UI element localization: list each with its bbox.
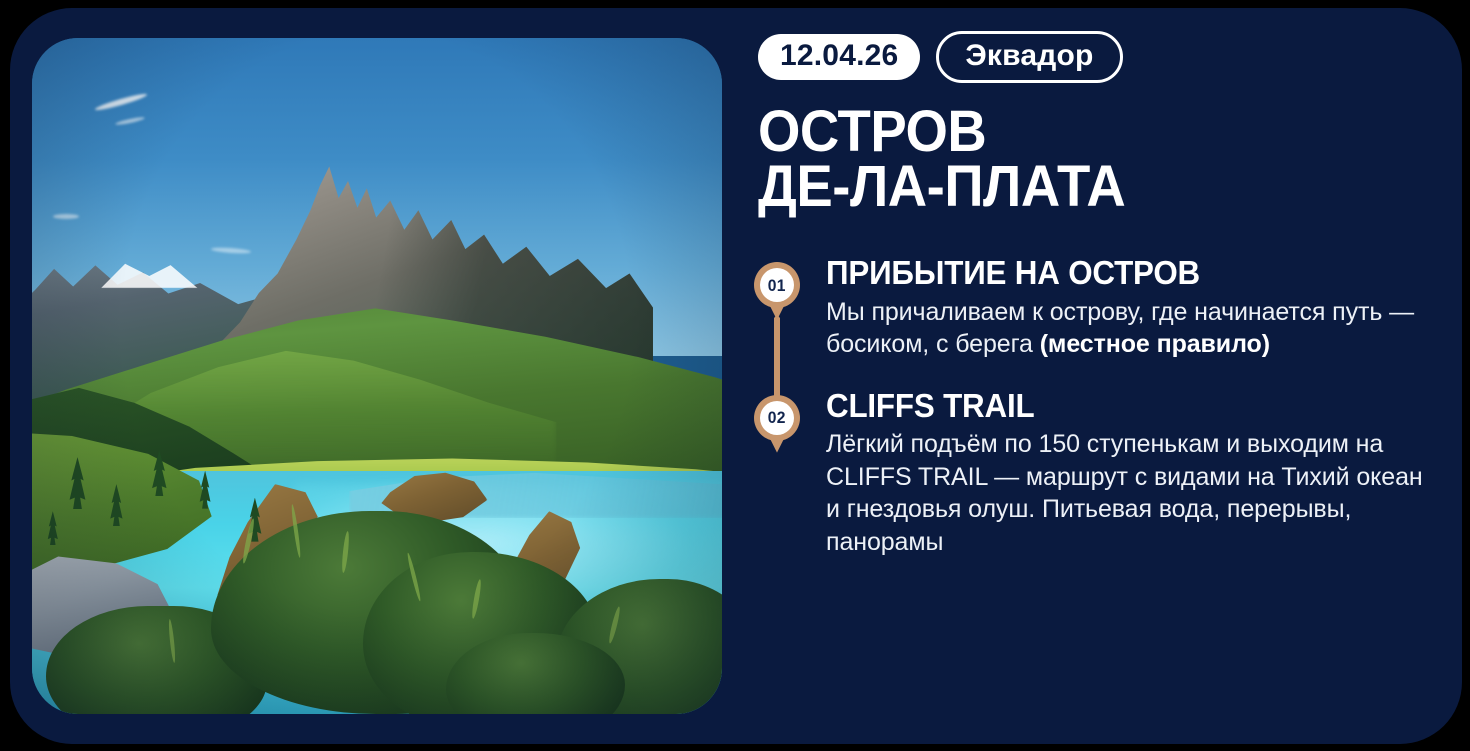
pin-column: 02 — [750, 389, 804, 453]
page-title: ОСТРОВ ДЕ-ЛА-ПЛАТА — [758, 104, 1407, 214]
pin-number: 02 — [768, 409, 786, 426]
date-badge[interactable]: 12.04.26 — [758, 34, 920, 80]
step-description: Мы причаливаем к острову, где начинается… — [826, 296, 1426, 361]
title-line-1: ОСТРОВ — [758, 104, 1407, 159]
connector-stem — [774, 363, 780, 393]
country-badge[interactable]: Эквадор — [936, 31, 1122, 83]
photo-canvas — [32, 38, 722, 714]
cloud-icon — [53, 214, 79, 219]
step-text-normal: Лёгкий подъём по 150 ступенькам и выходи… — [826, 430, 1423, 556]
step-text-bold: (местное правило) — [1040, 330, 1270, 358]
timeline-step: 01 ПРИБЫТИЕ НА ОСТРОВ Мы причаливаем к о… — [750, 256, 1450, 361]
title-line-2: ДЕ-ЛА-ПЛАТА — [758, 159, 1407, 214]
pin-badge: 01 — [760, 268, 794, 302]
timeline-step: 02 CLIFFS TRAIL Лёгкий подъём по 150 сту… — [750, 389, 1450, 559]
map-pin-icon: 02 — [754, 395, 800, 453]
screen-root: 12.04.26 Эквадор ОСТРОВ ДЕ-ЛА-ПЛАТА 01 — [0, 0, 1470, 751]
step-body: ПРИБЫТИЕ НА ОСТРОВ Мы причаливаем к остр… — [826, 256, 1450, 361]
step-description: Лёгкий подъём по 150 ступенькам и выходи… — [826, 428, 1426, 558]
pin-number: 01 — [768, 277, 786, 294]
step-title: CLIFFS TRAIL — [826, 389, 1419, 424]
map-pin-icon: 01 — [754, 262, 800, 320]
step-title: ПРИБЫТИЕ НА ОСТРОВ — [826, 256, 1419, 291]
landscape-photo — [32, 38, 722, 714]
itinerary-timeline: 01 ПРИБЫТИЕ НА ОСТРОВ Мы причаливаем к о… — [750, 256, 1450, 558]
pin-badge: 02 — [760, 401, 794, 435]
content-column: 12.04.26 Эквадор ОСТРОВ ДЕ-ЛА-ПЛАТА 01 — [750, 8, 1450, 744]
step-body: CLIFFS TRAIL Лёгкий подъём по 150 ступен… — [826, 389, 1450, 559]
pin-column: 01 — [750, 256, 804, 320]
tour-card: 12.04.26 Эквадор ОСТРОВ ДЕ-ЛА-ПЛАТА 01 — [10, 8, 1462, 744]
badge-row: 12.04.26 Эквадор — [758, 31, 1123, 83]
